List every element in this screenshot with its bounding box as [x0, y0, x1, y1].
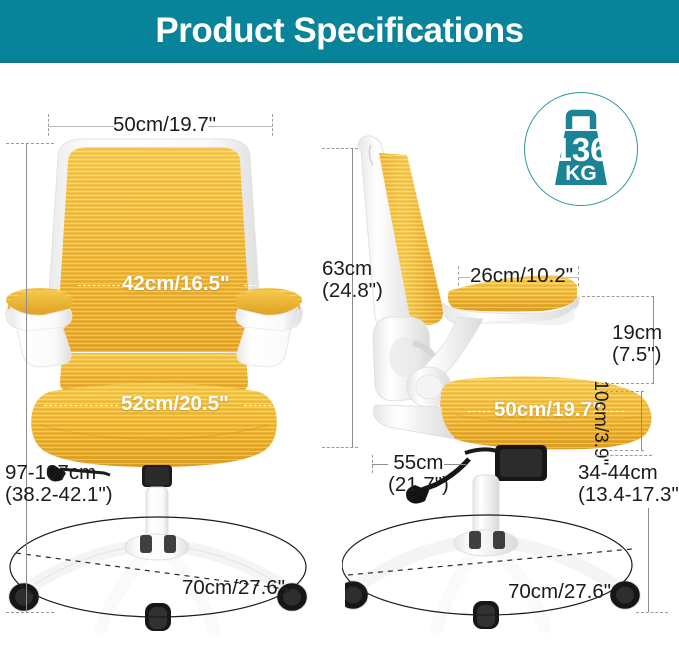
- dim-seat-height-cm: 34-44cm: [578, 462, 679, 484]
- rule-backrest-width-right: [208, 126, 272, 127]
- dim-armrest-height-in: (7.5"): [612, 344, 662, 366]
- tick-armrest-right: [578, 266, 579, 286]
- dim-backrest-height-cm: 63cm: [322, 258, 383, 280]
- dim-armrest-height: 19cm (7.5"): [612, 322, 662, 366]
- dim-front-base-diameter: 70cm/27.6": [182, 577, 285, 598]
- dim-backrest-height: 63cm (24.8"): [322, 258, 383, 302]
- header-banner: Product Specifications: [0, 0, 679, 63]
- dim-seat-height-in: (13.4-17.3"): [578, 484, 679, 506]
- rule-backrest-width-left: [48, 126, 114, 127]
- dim-seat-front-depth-cm: 55cm: [388, 452, 449, 474]
- dash-seat-height-bottom: [636, 612, 668, 613]
- dim-seat-height: 34-44cm (13.4-17.3"): [578, 462, 679, 506]
- dash-seat-height-top: [596, 455, 652, 456]
- rule-seat-width-right: [244, 405, 286, 406]
- rule-seat-thickness: [641, 391, 642, 450]
- dim-armrest-height-cm: 19cm: [612, 322, 662, 344]
- dash-backrest-height-bottom: [322, 447, 358, 448]
- dim-seat-depth: 50cm/19.7": [494, 399, 602, 420]
- dim-overall-height-in: (38.2-42.1"): [5, 484, 113, 506]
- dim-seat-width: 52cm/20.5": [121, 393, 229, 414]
- rule-seat-width-left: [44, 405, 118, 406]
- tick-armrest-left: [458, 266, 459, 286]
- dim-overall-height-cm: 97-107cm: [5, 462, 113, 484]
- rule-seat-height: [648, 508, 649, 612]
- dim-backrest-height-in: (24.8"): [322, 280, 383, 302]
- rule-seat-depth-left: [468, 411, 490, 412]
- dash-overall-height-bottom: [6, 612, 54, 613]
- rule-seat-front-depth-left: [372, 464, 388, 465]
- page-title: Product Specifications: [155, 13, 523, 48]
- dim-backrest-width: 50cm/19.7": [113, 114, 216, 135]
- rule-back-inner-right: [244, 285, 286, 286]
- rule-back-inner-left: [78, 285, 120, 286]
- dim-side-base-diameter: 70cm/27.6": [508, 581, 611, 602]
- side-base-footprint: [342, 503, 679, 631]
- rule-overall-height: [26, 143, 27, 612]
- dim-overall-height: 97-107cm (38.2-42.1"): [5, 462, 113, 506]
- dim-seat-front-depth-in: (21.7"): [388, 474, 449, 496]
- tick-backrest-width-right: [272, 114, 273, 136]
- dim-back-inner-width: 42cm/16.5": [122, 273, 230, 294]
- dash-armrest-height-top: [582, 296, 654, 297]
- rule-armrest-left: [458, 277, 470, 278]
- tick-backrest-width-left: [48, 114, 49, 136]
- product-specifications-image: Product Specifications 136 KG (function(…: [0, 0, 679, 656]
- dim-armrest-length: 26cm/10.2": [470, 265, 573, 286]
- dash-overall-height-top: [6, 143, 54, 144]
- dim-seat-front-depth: 55cm (21.7"): [388, 452, 449, 496]
